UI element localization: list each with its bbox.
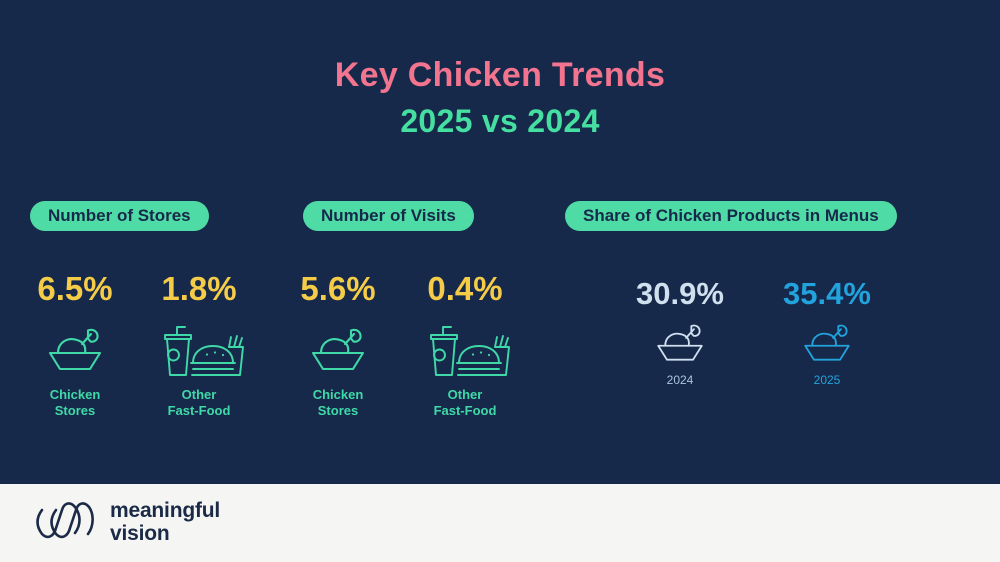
metric-caption: Other Fast-Food	[124, 387, 274, 420]
metric-share-2025: 35.4% 2025	[752, 278, 902, 388]
meaningful-vision-logo-icon	[32, 496, 96, 551]
brand-logo: meaningful vision	[32, 496, 220, 551]
metric-value: 35.4%	[752, 278, 902, 309]
metric-caption: 2025	[752, 373, 902, 388]
chicken-bowl-icon	[605, 321, 755, 367]
metric-stores-other-fast-food: 1.8% Other Fast-Food	[124, 272, 274, 420]
infographic-poster: Key Chicken Trends 2025 vs 2024 Number o…	[0, 0, 1000, 562]
section-badge-share: Share of Chicken Products in Menus	[565, 201, 897, 231]
metric-value: 0.4%	[390, 272, 540, 305]
metric-caption: 2024	[605, 373, 755, 388]
section-badge-visits: Number of Visits	[303, 201, 474, 231]
title-block: Key Chicken Trends 2025 vs 2024	[0, 54, 1000, 142]
metric-value: 30.9%	[605, 278, 755, 309]
brand-logo-text: meaningful vision	[110, 500, 220, 545]
page-title: Key Chicken Trends	[0, 54, 1000, 97]
fast-food-combo-icon	[390, 323, 540, 379]
fast-food-combo-icon	[124, 323, 274, 379]
metric-caption: Other Fast-Food	[390, 387, 540, 420]
page-subtitle: 2025 vs 2024	[0, 101, 1000, 143]
footer-bar: meaningful vision	[0, 484, 1000, 562]
metric-share-2024: 30.9% 2024	[605, 278, 755, 388]
section-badge-stores: Number of Stores	[30, 201, 209, 231]
metric-visits-other-fast-food: 0.4% Other Fast-Food	[390, 272, 540, 420]
metric-value: 1.8%	[124, 272, 274, 305]
chicken-bowl-icon	[752, 321, 902, 367]
